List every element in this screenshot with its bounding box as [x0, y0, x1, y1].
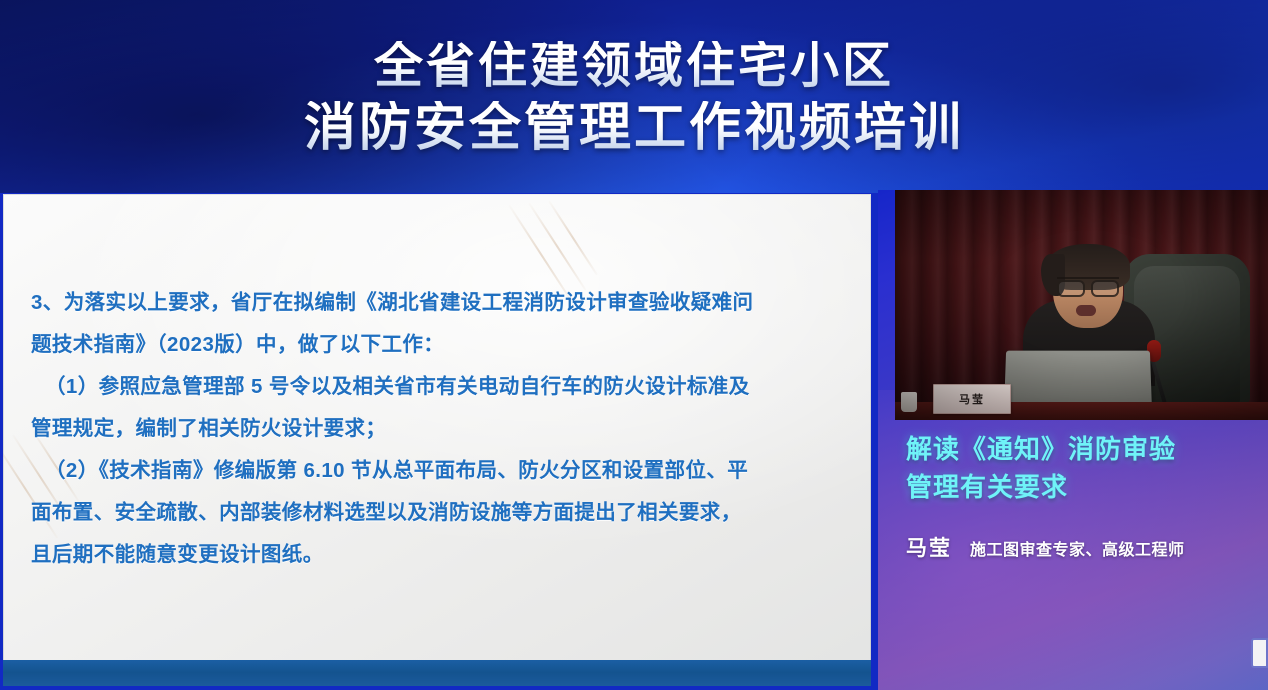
- session-caption-block: 解读《通知》消防审验 管理有关要求 马莹 施工图审查专家、高级工程师: [878, 430, 1268, 562]
- speaker-role: 施工图审查专家、高级工程师: [970, 536, 1185, 560]
- program-header-banner: 全省住建领域住宅小区 消防安全管理工作视频培训: [0, 0, 1268, 193]
- slide-line-7: 且后期不能随意变更设计图纸。: [31, 534, 841, 576]
- speaker-credit: 马莹 施工图审查专家、高级工程师: [906, 532, 1248, 562]
- header-title-line-2: 消防安全管理工作视频培训: [304, 101, 964, 156]
- caption-title-line-1: 解读《通知》消防审验: [906, 430, 1248, 468]
- speaker-panel: 马莹 解读《通知》消防审验 管理有关要求 马莹 施工图审查专家、高级工程师: [878, 190, 1268, 690]
- speaker-name: 马莹: [906, 532, 952, 562]
- slide-line-1: 3、为落实以上要求，省厅在拟编制《湖北省建设工程消防设计审查验收疑难问: [31, 282, 841, 324]
- header-title-group: 全省住建领域住宅小区 消防安全管理工作视频培训: [0, 0, 1268, 193]
- slide-text-body: 3、为落实以上要求，省厅在拟编制《湖北省建设工程消防设计审查验收疑难问 题技术指…: [3, 194, 871, 576]
- slide-line-2: 题技术指南》（2023版）中，做了以下工作：: [31, 324, 841, 366]
- header-title-line-1: 全省住建领域住宅小区: [374, 41, 894, 93]
- slide-line-6: 面布置、安全疏散、内部装修材料选型以及消防设施等方面提出了相关要求，: [31, 492, 841, 534]
- video-player-stage: 全省住建领域住宅小区 消防安全管理工作视频培训 3、为落实以上要求，省厅在拟编制…: [0, 0, 1268, 690]
- slide-line-4: 管理规定，编制了相关防火设计要求；: [31, 408, 841, 450]
- speaker-video-feed[interactable]: 马莹: [895, 190, 1268, 420]
- video-vignette-overlay: [895, 190, 1268, 420]
- edge-control-sliver[interactable]: [1251, 638, 1268, 668]
- slide-line-3: （1）参照应急管理部 5 号令以及相关省市有关电动自行车的防火设计标准及: [31, 366, 841, 408]
- caption-title-line-2: 管理有关要求: [906, 468, 1248, 506]
- slide-line-5: （2）《技术指南》修编版第 6.10 节从总平面布局、防火分区和设置部位、平: [31, 450, 841, 492]
- presentation-slide[interactable]: 3、为落实以上要求，省厅在拟编制《湖北省建设工程消防设计审查验收疑难问 题技术指…: [3, 194, 871, 686]
- slide-footer-band: [3, 660, 871, 686]
